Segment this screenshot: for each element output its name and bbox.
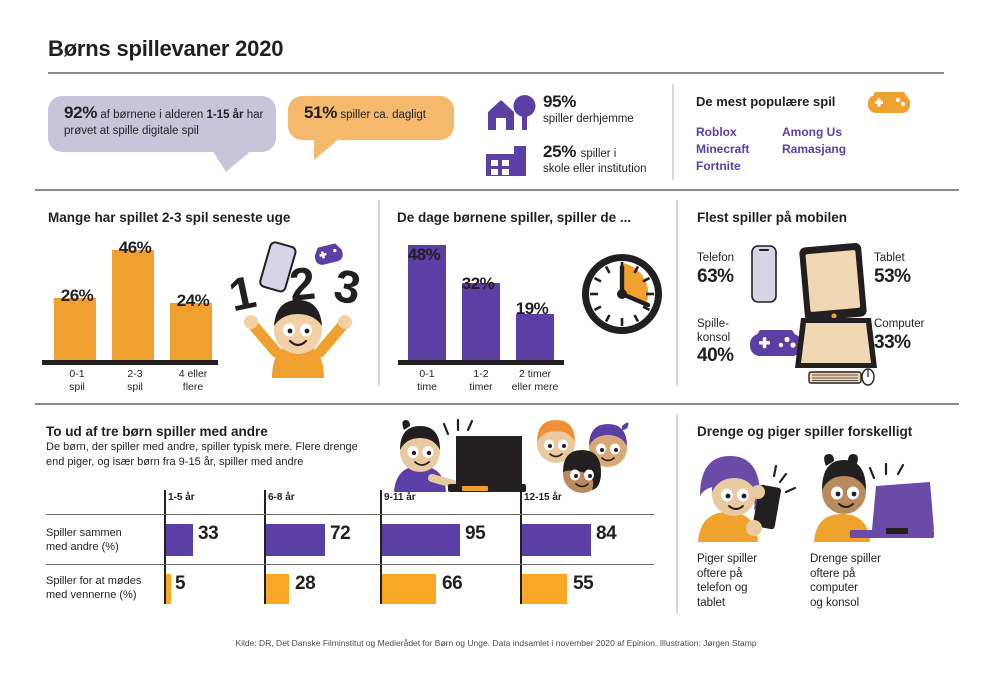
hbar-value: 28 xyxy=(295,573,315,595)
hbar-value: 84 xyxy=(596,523,616,545)
cat-line-1: 2 timer xyxy=(519,368,551,380)
source-footer: Kilde: DR, Det Danske Filminstitut og Me… xyxy=(0,638,992,648)
stat-bubble-51-label: spiller ca. dagligt xyxy=(337,109,426,121)
stat-bubble-92-percent: 92% xyxy=(64,103,97,122)
kids-computer-icon xyxy=(386,418,668,496)
stat-bubble-51: 51% spiller ca. dagligt xyxy=(288,96,454,140)
cat-line-2: eller mere xyxy=(512,381,559,393)
game-item: Among Us xyxy=(782,124,846,141)
stat-school-label-inline: spiller i xyxy=(581,148,617,160)
gender-caption-girls: Piger spiller oftere på telefon og table… xyxy=(697,552,797,610)
game-item: Minecraft xyxy=(696,141,749,158)
bar-2-3-spil xyxy=(112,250,154,360)
row-divider-mid xyxy=(46,564,654,565)
device-telefon-label: Telefon xyxy=(697,252,734,266)
hbar-play-together-6-8 xyxy=(266,524,325,556)
hbar-value: 72 xyxy=(330,523,350,545)
infographic-root: Børns spillevaner 2020 92% af børnene i … xyxy=(0,0,992,697)
svg-text:1: 1 xyxy=(228,265,260,321)
cat-line-2: flere xyxy=(183,381,203,393)
gender-caption-boys: Drenge spiller oftere på computer og kon… xyxy=(810,552,920,610)
series-label-line-1: Spiller for at mødes xyxy=(46,575,141,587)
stat-home-label: spiller derhjemme xyxy=(543,112,634,126)
chart-hours-per-day-axis xyxy=(398,360,564,365)
popular-games-col-left: Roblox Minecraft Fortnite xyxy=(696,124,749,175)
caption-line: tablet xyxy=(697,597,725,609)
row-divider-top xyxy=(46,514,654,515)
cat-line-1: 0-1 xyxy=(419,368,434,380)
bar-value-label: 19% xyxy=(502,299,562,319)
bubble-tail xyxy=(212,150,252,172)
divider-row1-row2 xyxy=(35,189,959,191)
popular-games-title: De mest populære spil xyxy=(696,94,835,109)
desktop-icon xyxy=(793,314,879,388)
hbar-play-together-12-15 xyxy=(522,524,591,556)
device-computer-label: Computer xyxy=(874,318,925,332)
hbar-value: 95 xyxy=(465,523,485,545)
device-spillekonsol-label-2: konsol xyxy=(697,332,734,346)
stat-bubble-92-label-b: 1-15 år xyxy=(206,109,243,121)
chart-hours-per-day-title: De dage børnene spiller, spiller de ... xyxy=(397,210,631,225)
hbar-meet-friends-9-11 xyxy=(382,574,436,604)
school-building-icon xyxy=(484,142,530,178)
caption-line: og konsol xyxy=(810,597,859,609)
bar-category-label: 4 eller flere xyxy=(157,368,229,393)
stat-bubble-51-percent: 51% xyxy=(304,103,337,122)
caption-line: telefon og xyxy=(697,582,748,594)
hbar-play-together-9-11 xyxy=(382,524,460,556)
caption-line: oftere på xyxy=(810,568,855,580)
hbar-value: 33 xyxy=(198,523,218,545)
bar-category-label: 1-2 timer xyxy=(451,368,511,393)
divider-row2-row3 xyxy=(35,403,959,405)
bar-0-1-spil xyxy=(54,298,96,360)
devices-title: Flest spiller på mobilen xyxy=(697,210,847,225)
phone-icon xyxy=(747,244,781,306)
caption-line: oftere på xyxy=(697,568,742,580)
clock-icon xyxy=(578,250,666,338)
cat-line-1: 1-2 xyxy=(473,368,488,380)
stat-school: 25% spiller i skole eller institution xyxy=(543,142,647,176)
caption-line: Drenge spiller xyxy=(810,553,881,565)
device-tablet-percent: 53% xyxy=(874,266,911,288)
svg-text:3: 3 xyxy=(330,259,364,315)
bar-1-2-timer xyxy=(462,283,500,360)
page-title: Børns spillevaner 2020 xyxy=(48,36,283,62)
play-with-others-title: To ud af tre børn spiller med andre xyxy=(46,424,268,439)
girl-phone-icon xyxy=(694,452,802,544)
child-with-123-icon: 1 2 3 xyxy=(228,240,368,385)
series-label-line-2: med vennerne (%) xyxy=(46,589,137,601)
divider-header xyxy=(48,72,944,74)
divider-vertical-b xyxy=(676,200,678,386)
device-telefon-percent: 63% xyxy=(697,266,734,288)
hbar-value: 66 xyxy=(442,573,462,595)
series-label-line-1: Spiller sammen xyxy=(46,527,122,539)
divider-vertical-row1 xyxy=(672,84,674,180)
play-with-others-chart: 1-5 år 6-8 år 9-11 år 12-15 år Spiller s… xyxy=(46,492,666,612)
stat-bubble-92-text: 92% af børnene i alderen 1-15 år har prø… xyxy=(64,105,264,139)
bar-value-label: 24% xyxy=(160,291,226,311)
popular-games-col-right: Among Us Ramasjang xyxy=(782,124,846,158)
group-header-12-15: 12-15 år xyxy=(524,492,562,503)
bar-value-label: 32% xyxy=(448,274,508,294)
hbar-value: 55 xyxy=(573,573,593,595)
device-tablet-label: Tablet xyxy=(874,252,911,266)
stat-home-percent: 95% xyxy=(543,92,634,112)
series-label-play-together: Spiller sammen med andre (%) xyxy=(46,526,161,554)
stat-bubble-92-label-a: af børnene i alderen xyxy=(97,109,206,121)
stat-bubble-92: 92% af børnene i alderen 1-15 år har prø… xyxy=(48,96,276,152)
hbar-value: 5 xyxy=(175,573,185,595)
stat-school-label: skole eller institution xyxy=(543,162,647,176)
house-tree-icon xyxy=(484,92,536,132)
gamepad-icon xyxy=(866,90,912,118)
play-with-others-subtitle: De børn, der spiller med andre, spiller … xyxy=(46,440,376,470)
caption-line: computer xyxy=(810,582,858,594)
device-spillekonsol: Spille- konsol 40% xyxy=(697,318,734,367)
hbar-meet-friends-6-8 xyxy=(266,574,289,604)
hbar-meet-friends-1-5 xyxy=(166,574,171,604)
group-header-6-8: 6-8 år xyxy=(268,492,295,503)
bar-2-timer-eller-mere xyxy=(516,314,554,360)
tablet-icon xyxy=(798,242,870,324)
stat-bubble-51-text: 51% spiller ca. dagligt xyxy=(304,105,442,123)
bar-value-label: 46% xyxy=(102,238,168,258)
bar-category-label: 0-1 time xyxy=(397,368,457,393)
device-telefon: Telefon 63% xyxy=(697,252,734,288)
game-item: Roblox xyxy=(696,124,749,141)
stat-home: 95% spiller derhjemme xyxy=(543,92,634,126)
boy-computer-icon xyxy=(810,452,938,544)
chart-games-last-week-title: Mange har spillet 2-3 spil seneste uge xyxy=(48,210,290,225)
bubble-tail xyxy=(314,138,340,160)
cat-line-2: timer xyxy=(469,381,492,393)
cat-line-2: spil xyxy=(127,381,143,393)
group-header-9-11: 9-11 år xyxy=(384,492,416,503)
series-label-meet-friends: Spiller for at mødes med vennerne (%) xyxy=(46,574,164,602)
bar-4-eller-flere xyxy=(170,303,212,360)
series-label-line-2: med andre (%) xyxy=(46,541,119,553)
game-item: Ramasjang xyxy=(782,141,846,158)
game-item: Fortnite xyxy=(696,158,749,175)
cat-line-1: 0-1 xyxy=(69,368,84,380)
gender-title: Drenge og piger spiller forskelligt xyxy=(697,424,912,439)
hbar-meet-friends-12-15 xyxy=(522,574,567,604)
cat-line-2: spil xyxy=(69,381,85,393)
bar-value-label: 26% xyxy=(44,286,110,306)
chart-games-last-week-axis xyxy=(42,360,218,365)
bar-value-label: 48% xyxy=(394,245,454,265)
divider-vertical-a xyxy=(378,200,380,386)
cat-line-1: 2-3 xyxy=(127,368,142,380)
device-computer-percent: 33% xyxy=(874,332,925,354)
hbar-play-together-1-5 xyxy=(166,524,193,556)
stat-school-line1: 25% spiller i xyxy=(543,142,647,162)
stat-school-percent: 25% xyxy=(543,142,576,161)
device-computer: Computer 33% xyxy=(874,318,925,354)
group-header-1-5: 1-5 år xyxy=(168,492,195,503)
caption-line: Piger spiller xyxy=(697,553,757,565)
cat-line-1: 4 eller xyxy=(179,368,208,380)
device-spillekonsol-label-1: Spille- xyxy=(697,318,734,332)
divider-vertical-c xyxy=(676,414,678,614)
cat-line-2: time xyxy=(417,381,437,393)
bar-category-label: 2 timer eller mere xyxy=(505,368,565,393)
device-tablet: Tablet 53% xyxy=(874,252,911,288)
device-spillekonsol-percent: 40% xyxy=(697,345,734,367)
